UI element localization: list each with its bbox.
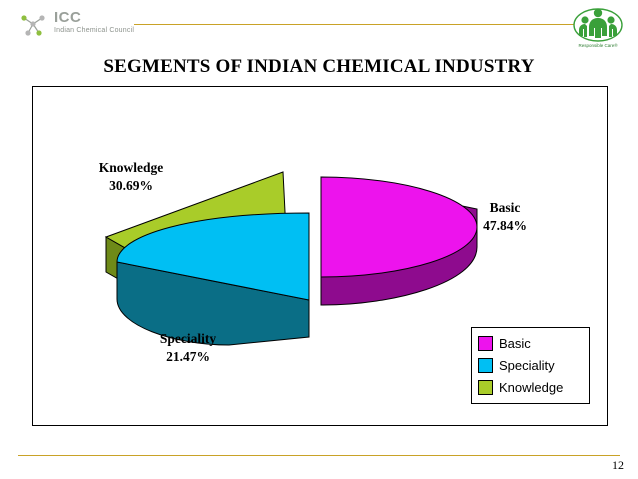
page-title: SEGMENTS OF INDIAN CHEMICAL INDUSTRY bbox=[0, 56, 638, 78]
pie-label-speciality: Speciality 21.47% bbox=[113, 330, 263, 366]
pie-label-knowledge-value: 30.69% bbox=[61, 177, 201, 195]
responsible-care-caption: Responsible Care® bbox=[572, 43, 624, 48]
legend-item-knowledge[interactable]: Knowledge bbox=[478, 376, 584, 398]
pie-label-knowledge: Knowledge 30.69% bbox=[61, 159, 201, 195]
legend-label-basic: Basic bbox=[499, 337, 531, 350]
legend-label-speciality: Speciality bbox=[499, 359, 555, 372]
legend-item-basic[interactable]: Basic bbox=[478, 332, 584, 354]
pie-chart: Knowledge 30.69% Speciality 21.47% Basic… bbox=[32, 86, 608, 426]
legend-label-knowledge: Knowledge bbox=[499, 381, 563, 394]
legend-swatch-speciality bbox=[478, 358, 493, 373]
footer-divider bbox=[18, 455, 620, 456]
pie-label-basic-value: 47.84% bbox=[445, 217, 565, 235]
responsible-care-icon bbox=[572, 4, 624, 42]
icc-logo: ICC Indian Chemical Council bbox=[18, 8, 138, 44]
legend-swatch-basic bbox=[478, 336, 493, 351]
chart-legend: Basic Speciality Knowledge bbox=[471, 327, 590, 404]
legend-item-speciality[interactable]: Speciality bbox=[478, 354, 584, 376]
pie-label-speciality-value: 21.47% bbox=[113, 348, 263, 366]
pie-label-speciality-text: Speciality bbox=[113, 330, 263, 348]
slide-header: ICC Indian Chemical Council Responsible … bbox=[0, 0, 638, 50]
pie-label-basic-text: Basic bbox=[445, 199, 565, 217]
icc-logo-title: ICC bbox=[54, 9, 81, 26]
pie-label-basic: Basic 47.84% bbox=[445, 199, 565, 235]
legend-swatch-knowledge bbox=[478, 380, 493, 395]
icc-logo-subtitle: Indian Chemical Council bbox=[54, 27, 134, 34]
page-number: 12 bbox=[612, 458, 624, 473]
molecule-icon bbox=[18, 10, 48, 40]
header-divider bbox=[134, 24, 574, 25]
pie-label-knowledge-text: Knowledge bbox=[61, 159, 201, 177]
responsible-care-logo: Responsible Care® bbox=[572, 4, 624, 48]
